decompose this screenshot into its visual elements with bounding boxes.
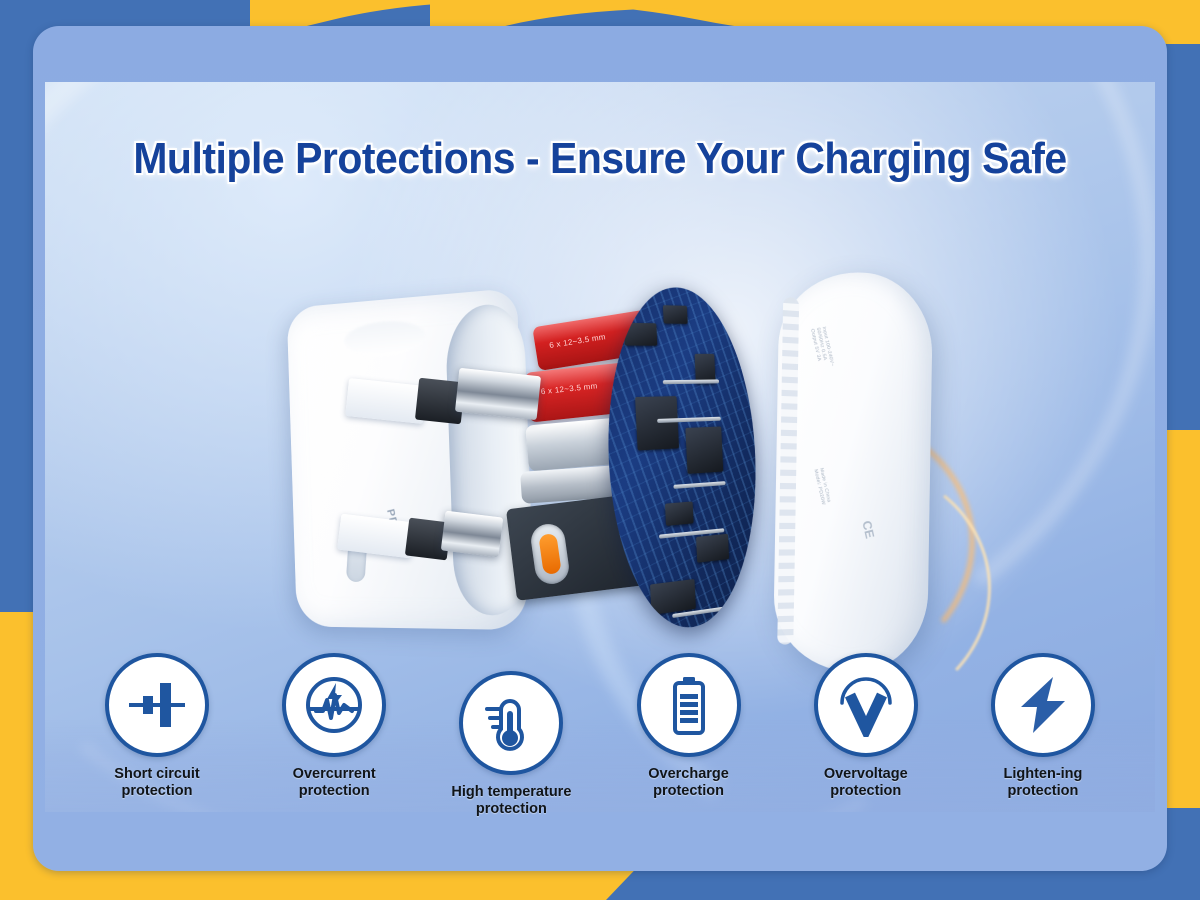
plug-rating-text-2: Made in China Model: PD20W <box>813 467 841 544</box>
feature-label: High temperature protection <box>451 784 571 818</box>
pcb-chip <box>635 396 679 450</box>
content-panel: PD 20W 6 x 12~3.5 mm 6 x 12~3.5 mm <box>33 26 1167 871</box>
pcb-chip <box>663 305 688 324</box>
feature-label-line1: Lighten-ing <box>1003 766 1082 782</box>
feature-label-line1: Overcurrent <box>293 766 376 782</box>
ce-mark: CE <box>859 519 877 540</box>
feature-label-line2: protection <box>299 783 370 799</box>
plug-rating-text-1: Input 100-240V~ 50/60Hz 0.5A Output 5V 3… <box>809 326 843 405</box>
lightning-bolt-icon <box>1011 673 1075 737</box>
feature-item-overcurrent: Overcurrent protection <box>246 653 422 800</box>
feature-icon-circle <box>991 653 1095 757</box>
plug-prong-top-metal <box>455 368 541 420</box>
feature-label-line2: protection <box>1007 783 1078 799</box>
exploded-charger-illustration: PD 20W 6 x 12~3.5 mm 6 x 12~3.5 mm <box>235 262 1015 692</box>
battery-icon <box>657 673 721 737</box>
feature-item-short-circuit: Short circuit protection <box>69 653 245 800</box>
capacitor-label-lower: 6 x 12~3.5 mm <box>540 381 598 396</box>
pcb-chip <box>624 323 658 346</box>
plug-prong-bottom-metal <box>441 511 503 558</box>
feature-item-overvoltage: Overvoltage protection <box>778 653 954 800</box>
capacitor-label-upper: 6 x 12~3.5 mm <box>549 332 607 350</box>
feature-icon-circle <box>637 653 741 757</box>
feature-icon-circle <box>459 671 563 775</box>
charger-shell: PD 20W <box>287 288 529 630</box>
pcb-pin <box>663 379 719 384</box>
usbc-port-core <box>538 533 561 575</box>
feature-label: Short circuit protection <box>114 766 199 800</box>
feature-item-overcharge: Overcharge protection <box>601 653 777 800</box>
feature-label-line1: Short circuit <box>114 766 199 782</box>
feature-icon-circle <box>814 653 918 757</box>
feature-label-line2: protection <box>476 801 547 817</box>
feature-label-line2: protection <box>653 783 724 799</box>
feature-label: Overcurrent protection <box>293 766 376 800</box>
feature-label-line1: High temperature <box>451 784 571 800</box>
feature-label: Lighten-ing protection <box>1003 766 1082 800</box>
feature-icon-circle <box>105 653 209 757</box>
feature-item-lightening: Lighten-ing protection <box>955 653 1131 800</box>
pcb-pin <box>657 417 721 423</box>
feature-label-line1: Overcharge <box>648 766 729 782</box>
feature-label: Overvoltage protection <box>824 766 908 800</box>
marketing-banner: PD 20W 6 x 12~3.5 mm 6 x 12~3.5 mm <box>0 0 1200 900</box>
page-title: Multiple Protections - Ensure Your Charg… <box>73 134 1128 184</box>
thermometer-icon <box>479 691 543 755</box>
plug-ridges <box>777 297 799 645</box>
charger-shell-highlight <box>344 318 427 358</box>
feature-item-high-temperature: High temperature protection <box>423 671 599 818</box>
feature-label-line2: protection <box>122 783 193 799</box>
feature-label-line2: protection <box>830 783 901 799</box>
short-circuit-icon <box>125 673 189 737</box>
feature-label-line1: Overvoltage <box>824 766 908 782</box>
overcurrent-icon <box>302 673 366 737</box>
feature-label: Overcharge protection <box>648 766 729 800</box>
voltage-v-icon <box>834 673 898 737</box>
feature-list: Short circuit protection <box>45 653 1155 833</box>
uk-plug-housing: Input 100-240V~ 50/60Hz 0.5A Output 5V 3… <box>773 266 934 676</box>
feature-icon-circle <box>282 653 386 757</box>
